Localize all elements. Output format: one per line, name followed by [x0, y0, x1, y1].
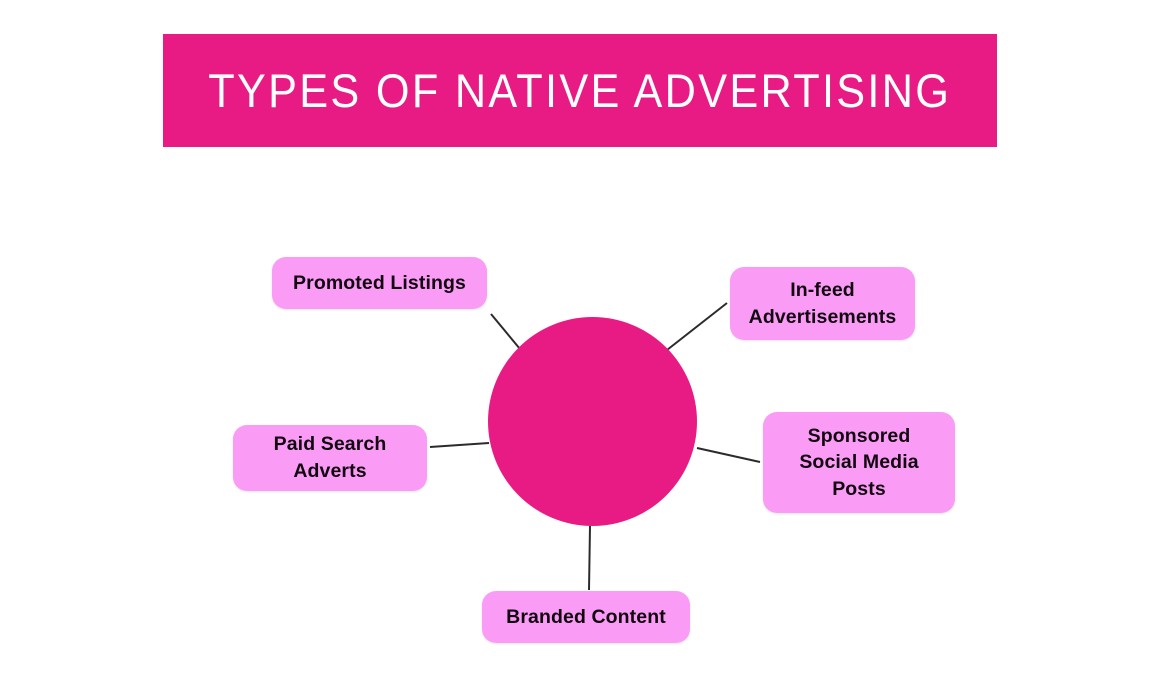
- node-sponsored-social-media-posts[interactable]: Sponsored Social Media Posts: [763, 412, 955, 513]
- node-paid-search-line2: Adverts: [293, 460, 366, 482]
- node-promoted-listings-label: Promoted Listings: [293, 270, 466, 297]
- node-sponsored-social-line1: Sponsored: [808, 425, 911, 447]
- connector-branded-content: [589, 526, 590, 590]
- node-branded-content-label: Branded Content: [506, 604, 666, 631]
- node-branded-content[interactable]: Branded Content: [482, 591, 690, 643]
- connector-paid-search: [430, 443, 489, 447]
- node-paid-search-line1: Paid Search: [274, 433, 387, 455]
- node-sponsored-social-line3: Posts: [832, 478, 886, 500]
- node-sponsored-social-line2: Social Media: [799, 451, 918, 473]
- hub-and-spoke-diagram: Promoted Listings In-feed Advertisements…: [0, 0, 1160, 680]
- node-promoted-listings[interactable]: Promoted Listings: [272, 257, 487, 309]
- node-in-feed-line1: In-feed: [790, 279, 855, 301]
- node-in-feed-advertisements[interactable]: In-feed Advertisements: [730, 267, 915, 340]
- node-in-feed-label: In-feed Advertisements: [749, 277, 897, 330]
- central-hub-circle: [488, 317, 697, 526]
- node-paid-search-adverts[interactable]: Paid Search Adverts: [233, 425, 427, 491]
- diagram-canvas: TYPES OF NATIVE ADVERTISING Promoted Lis…: [0, 0, 1160, 680]
- connector-in-feed: [667, 303, 727, 350]
- node-paid-search-label: Paid Search Adverts: [274, 431, 387, 484]
- node-sponsored-social-label: Sponsored Social Media Posts: [799, 423, 918, 503]
- node-in-feed-line2: Advertisements: [749, 306, 897, 328]
- connector-promoted-listings: [491, 314, 520, 349]
- connector-sponsored-social: [697, 448, 760, 462]
